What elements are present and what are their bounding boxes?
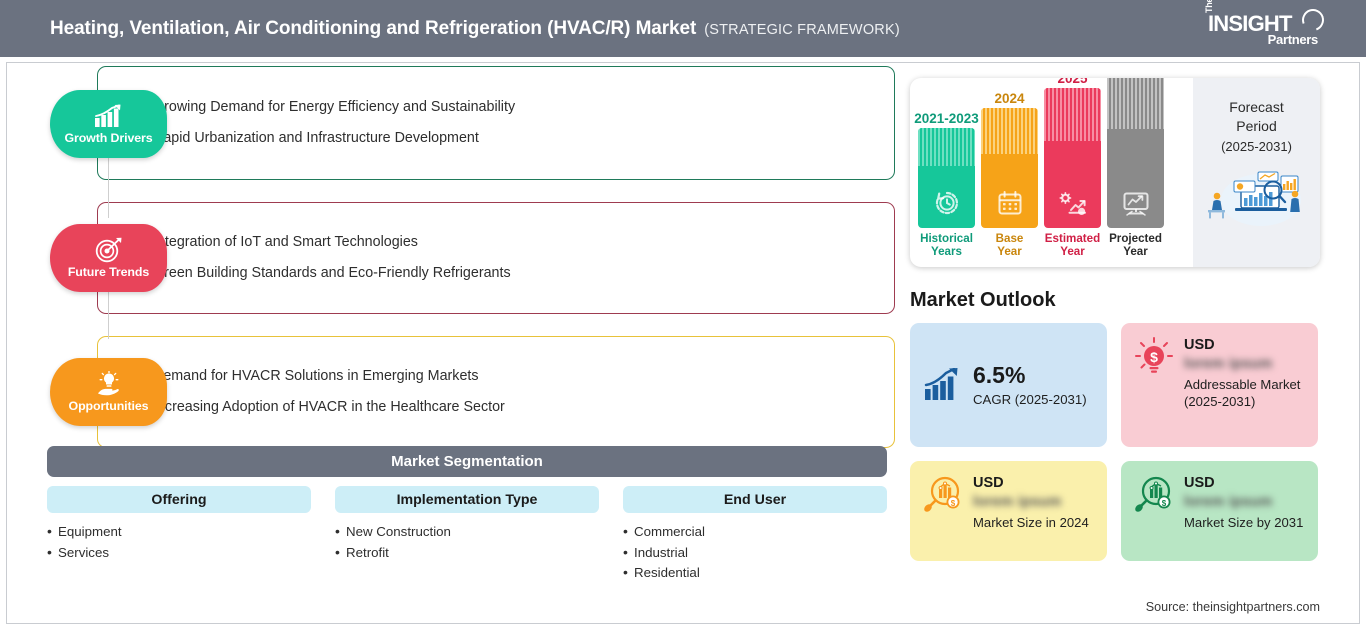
framework-box-opportunities: Demand for HVACR Solutions in Emerging M… [97, 336, 895, 448]
framework-bullet: Increasing Adoption of HVACR in the Heal… [140, 397, 874, 418]
svg-text:$: $ [1162, 499, 1167, 508]
currency-label: USD [973, 475, 1095, 491]
timeline-bar [981, 108, 1038, 228]
cagr-value: 6.5% [973, 362, 1095, 388]
timeline-bar-stripes [1044, 88, 1101, 141]
framework-row-growth-drivers: Growth Drivers Growing Demand for Energy… [40, 66, 895, 180]
forecast-period-title: Forecast Period [1229, 98, 1283, 136]
segment-items-offering: Equipment Services [47, 522, 311, 563]
redacted-value: lorem ipsum [1184, 356, 1306, 372]
segment-item: Equipment [47, 522, 311, 543]
page-title: Heating, Ventilation, Air Conditioning a… [50, 18, 900, 40]
badge-growth-drivers[interactable]: Growth Drivers [50, 90, 167, 158]
badge-future-trends[interactable]: Future Trends [50, 224, 167, 292]
svg-text:$: $ [951, 499, 956, 508]
target-dartboard-icon [95, 237, 123, 263]
bar-chart-growth-icon [94, 103, 124, 129]
timeline-bar-group: 2031 Projected Year [1107, 78, 1164, 258]
right-column: 2021-2023 Historical Years2024 Base Year… [910, 78, 1322, 561]
timeline-bar-stripes [1107, 78, 1164, 129]
segment-header-end-user: End User [623, 486, 887, 513]
badge-label-opportunities: Opportunities [69, 399, 149, 413]
framework-bullet: Green Building Standards and Eco-Friendl… [140, 263, 874, 284]
market-outlook-cards: 6.5% CAGR (2025-2031) $ [910, 323, 1320, 561]
logo-swoosh-icon [1298, 5, 1327, 34]
segmentation-column-end-user: End User Commercial Industrial Residenti… [623, 486, 887, 584]
hand-lightbulb-icon [94, 371, 124, 397]
lightbulb-dollar-icon: $ [1133, 337, 1175, 377]
segment-item: Retrofit [335, 543, 599, 564]
outlook-card-text: USD lorem ipsum Market Size by 2031 [1184, 475, 1306, 531]
framework-bullet: Demand for HVACR Solutions in Emerging M… [140, 366, 874, 387]
segment-item: Services [47, 543, 311, 564]
insight-partners-logo: The INSIGHT Partners [1196, 9, 1326, 49]
timeline-bar-group: 2024 Base Year [981, 91, 1038, 258]
outlook-card-market-size-2031[interactable]: $ USD lorem ipsum Market Size by 2031 [1121, 461, 1318, 561]
outlook-card-text: USD lorem ipsum Market Size in 2024 [973, 475, 1095, 531]
timeline-bar-group: 2021-2023 Historical Years [918, 111, 975, 258]
strategic-framework-column: Growth Drivers Growing Demand for Energy… [40, 66, 895, 470]
currency-label: USD [1184, 475, 1306, 491]
timeline-bar-caption: Historical Years [920, 232, 973, 258]
timeline-bar [1044, 88, 1101, 228]
forecast-period-block: Forecast Period (2025-2031) [1193, 78, 1320, 267]
timeline-bar-stripes [918, 128, 975, 166]
page-title-subtitle: (STRATEGIC FRAMEWORK) [704, 22, 900, 38]
timeline-bar [1107, 78, 1164, 228]
segment-items-end-user: Commercial Industrial Residential [623, 522, 887, 584]
outlook-card-addressable-market[interactable]: $ USD lorem ipsum Addressable Market (20… [1121, 323, 1318, 447]
outlook-card-text: 6.5% CAGR (2025-2031) [973, 362, 1095, 408]
timeline-bar [918, 128, 975, 228]
analytics-gear-icon [1044, 192, 1101, 216]
timeline-bar-stripes [981, 108, 1038, 154]
currency-label: USD [1184, 337, 1306, 353]
framework-bullet: Growing Demand for Energy Efficiency and… [140, 97, 874, 118]
timeline-bar-group: 2025 Estimated Year [1044, 78, 1101, 258]
segmentation-column-offering: Offering Equipment Services [47, 486, 311, 584]
addressable-market-label: Addressable Market (2025-2031) [1184, 376, 1306, 410]
timeline-bar-year-label: 2021-2023 [914, 111, 979, 126]
business-analytics-illustration [1203, 168, 1311, 231]
badge-label-future-trends: Future Trends [68, 265, 149, 279]
segment-header-implementation-type: Implementation Type [335, 486, 599, 513]
forecast-timeline-panel: 2021-2023 Historical Years2024 Base Year… [910, 78, 1320, 267]
framework-box-growth-drivers: Growing Demand for Energy Efficiency and… [97, 66, 895, 180]
badge-opportunities[interactable]: Opportunities [50, 358, 167, 426]
outlook-card-cagr[interactable]: 6.5% CAGR (2025-2031) [910, 323, 1107, 447]
timeline-bars-chart: 2021-2023 Historical Years2024 Base Year… [910, 78, 1193, 267]
connector-line-1 [108, 158, 109, 218]
segmentation-columns: Offering Equipment Services Implementati… [47, 486, 887, 584]
badge-label-growth-drivers: Growth Drivers [64, 131, 152, 145]
outlook-card-market-size-2024[interactable]: $ USD lorem ipsum Market Size in 2024 [910, 461, 1107, 561]
market-segmentation: Market Segmentation Offering Equipment S… [47, 446, 887, 584]
forecast-period-range: (2025-2031) [1221, 139, 1292, 154]
framework-row-opportunities: Opportunities Demand for HVACR Solutions… [40, 336, 895, 448]
calendar-icon [981, 190, 1038, 216]
logo-partners-text: Partners [1268, 32, 1318, 47]
redacted-value: lorem ipsum [1184, 494, 1306, 510]
segment-item: Residential [623, 563, 887, 584]
outlook-card-text: USD lorem ipsum Addressable Market (2025… [1184, 337, 1306, 410]
framework-row-future-trends: Future Trends Integration of IoT and Sma… [40, 202, 895, 314]
segment-item: New Construction [335, 522, 599, 543]
market-size-2024-label: Market Size in 2024 [973, 514, 1095, 531]
segment-item: Commercial [623, 522, 887, 543]
market-size-2031-label: Market Size by 2031 [1184, 514, 1306, 531]
timeline-bar-caption: Base Year [996, 232, 1024, 258]
segment-items-implementation-type: New Construction Retrofit [335, 522, 599, 563]
source-attribution: Source: theinsightpartners.com [910, 600, 1320, 614]
redacted-value: lorem ipsum [973, 494, 1095, 510]
timeline-bar-year-label: 2025 [1057, 78, 1087, 86]
infographic-root: Heating, Ventilation, Air Conditioning a… [0, 0, 1366, 635]
forecast-title-line1: Forecast [1229, 99, 1283, 115]
segmentation-column-implementation-type: Implementation Type New Construction Ret… [335, 486, 599, 584]
magnifier-chart-dollar-icon: $ [922, 475, 964, 513]
bar-chart-arrow-icon [922, 368, 964, 402]
framework-box-future-trends: Integration of IoT and Smart Technologie… [97, 202, 895, 314]
svg-text:$: $ [1150, 349, 1158, 365]
monitor-chart-icon [1107, 191, 1164, 216]
segment-item: Industrial [623, 543, 887, 564]
page-title-main: Heating, Ventilation, Air Conditioning a… [50, 18, 696, 39]
timeline-bar-caption: Estimated Year [1045, 232, 1100, 258]
timeline-bar-caption: Projected Year [1109, 232, 1162, 258]
segmentation-title: Market Segmentation [47, 446, 887, 477]
framework-bullet: Rapid Urbanization and Infrastructure De… [140, 128, 874, 149]
magnifier-chart-dollar-icon: $ [1133, 475, 1175, 513]
market-outlook-title: Market Outlook [910, 289, 1322, 312]
segment-header-offering: Offering [47, 486, 311, 513]
cagr-label: CAGR (2025-2031) [973, 391, 1095, 408]
forecast-title-line2: Period [1236, 118, 1276, 134]
clock-history-icon [918, 190, 975, 216]
framework-bullet: Integration of IoT and Smart Technologie… [140, 232, 874, 253]
timeline-bar-year-label: 2024 [994, 91, 1024, 106]
page-header: Heating, Ventilation, Air Conditioning a… [0, 0, 1366, 57]
